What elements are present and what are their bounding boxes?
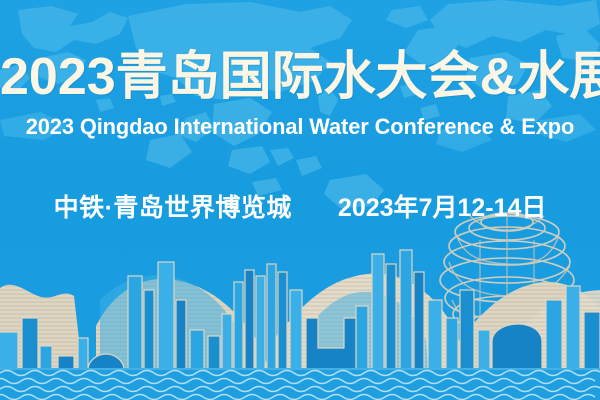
event-banner-poster: 2023青岛国际水大会&水展 2023 Qingdao Internationa… [0,0,600,400]
poster-text-block: 2023青岛国际水大会&水展 2023 Qingdao Internationa… [0,0,600,400]
poster-title-chinese: 2023青岛国际水大会&水展 [0,50,600,105]
poster-dates-text: 2023年7月12-14日 [338,188,546,224]
poster-subline: 中铁·青岛世界博览城 2023年7月12-14日 [0,188,600,224]
poster-title-english: 2023 Qingdao International Water Confere… [9,114,591,140]
poster-venue-text: 中铁·青岛世界博览城 [54,188,292,224]
